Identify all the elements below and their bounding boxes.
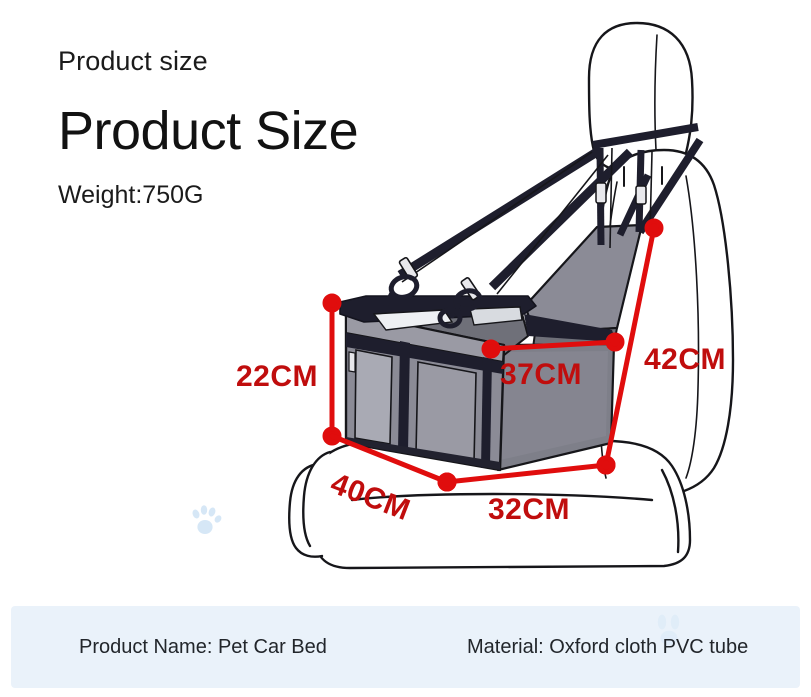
dimension-label-22cm: 22CM bbox=[236, 360, 318, 394]
dimension-dot-37-left bbox=[484, 342, 498, 356]
dimension-dot-32-right bbox=[599, 458, 613, 472]
footer-product-name: Product Name: Pet Car Bed bbox=[79, 636, 327, 659]
footer-info-bar: Product Name: Pet Car Bed Material: Oxfo… bbox=[11, 606, 800, 688]
dimension-dot-37-right bbox=[608, 335, 622, 349]
headrest-shape bbox=[589, 23, 693, 172]
buckle-headrest-2 bbox=[636, 186, 646, 204]
bed-pocket-left bbox=[355, 350, 392, 444]
product-size-page: Product size Product Size Weight:750G bbox=[0, 0, 811, 697]
paw-toe-2 bbox=[201, 505, 207, 515]
paw-toe-right bbox=[671, 615, 679, 630]
paw-toe-3 bbox=[207, 507, 216, 518]
paw-toe-1 bbox=[191, 508, 201, 519]
bed-side-tab bbox=[349, 352, 355, 372]
bed-pocket-right bbox=[416, 362, 476, 462]
dimension-label-32cm: 32CM bbox=[488, 493, 570, 527]
paw-toe-4 bbox=[213, 514, 223, 524]
dimension-label-37cm: 37CM bbox=[500, 358, 582, 392]
paw-toe-left bbox=[658, 615, 666, 630]
dimension-dot-22-top bbox=[325, 296, 339, 310]
paw-pad bbox=[197, 520, 212, 534]
dimension-dot-32-left bbox=[440, 475, 454, 489]
footer-material: Material: Oxford cloth PVC tube bbox=[467, 636, 748, 659]
dimension-label-42cm: 42CM bbox=[644, 343, 726, 377]
bed-front-divider bbox=[398, 341, 410, 452]
dimension-dot-42-top bbox=[647, 221, 661, 235]
buckle-headrest bbox=[596, 183, 606, 203]
paw-print-icon bbox=[188, 503, 224, 539]
